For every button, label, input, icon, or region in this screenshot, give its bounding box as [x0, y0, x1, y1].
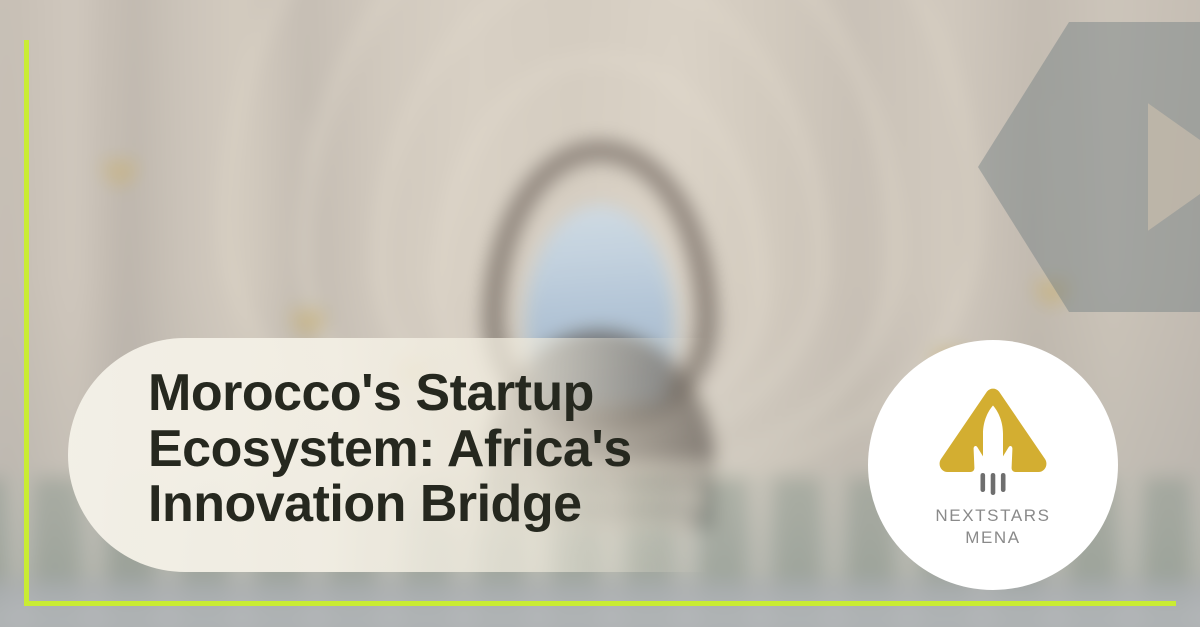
- page-title: Morocco's Startup Ecosystem: Africa's In…: [148, 366, 768, 533]
- rocket-in-triangle-logo-icon: [937, 387, 1049, 495]
- title-line-2: Ecosystem: Africa's: [148, 422, 768, 478]
- brand-wordmark: NEXTSTARS MENA: [935, 505, 1050, 550]
- title-line-1: Morocco's Startup: [148, 366, 768, 422]
- brand-name-region: MENA: [935, 527, 1050, 549]
- article-hero-banner: Morocco's Startup Ecosystem: Africa's In…: [0, 0, 1200, 627]
- title-line-3: Innovation Bridge: [148, 477, 768, 533]
- brand-name-primary: NEXTSTARS: [935, 505, 1050, 527]
- lime-accent-rule-vertical: [24, 40, 29, 606]
- lime-accent-rule-horizontal: [24, 601, 1176, 606]
- brand-logo-badge[interactable]: NEXTSTARS MENA: [868, 340, 1118, 590]
